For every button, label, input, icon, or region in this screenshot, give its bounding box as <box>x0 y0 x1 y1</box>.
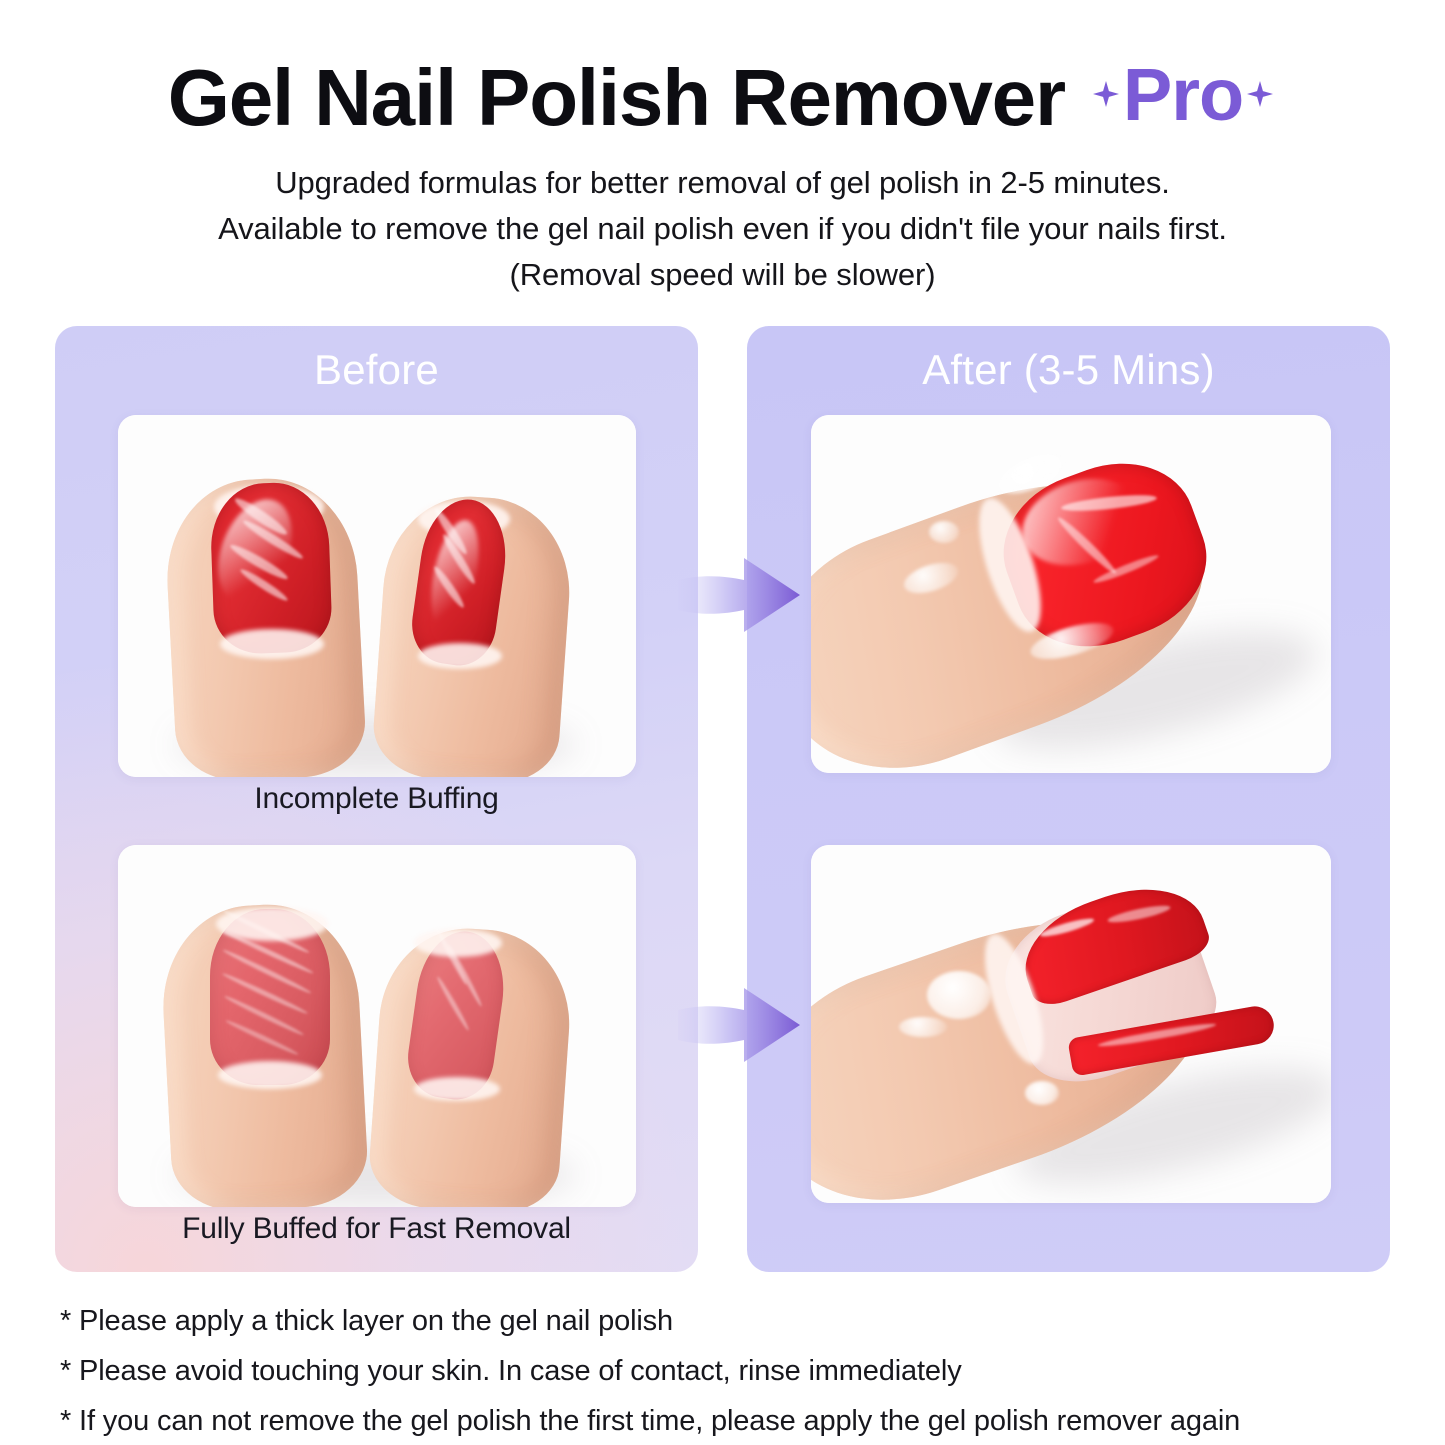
after-panel-heading: After (3-5 Mins) <box>747 326 1390 414</box>
subtitle-line-2: Available to remove the gel nail polish … <box>0 206 1445 252</box>
after-photo-card-1 <box>811 415 1331 773</box>
photo-polish-peeling <box>811 845 1331 1203</box>
before-photo-card-2 <box>118 845 636 1207</box>
sparkle-diamond-icon <box>1247 81 1273 107</box>
page-title: Gel Nail Polish RemoverPro <box>0 52 1445 144</box>
pro-badge: Pro <box>1089 52 1277 137</box>
arrow-right-icon <box>676 982 802 1068</box>
pro-badge-label: Pro <box>1123 53 1243 136</box>
subtitle-line-1: Upgraded formulas for better removal of … <box>0 160 1445 206</box>
before-caption-2: Fully Buffed for Fast Removal <box>55 1212 698 1246</box>
infographic-root: Gel Nail Polish RemoverPro Upgraded form… <box>0 0 1445 1445</box>
photo-gel-applied <box>811 415 1331 773</box>
subtitle-block: Upgraded formulas for better removal of … <box>0 160 1445 298</box>
after-photo-card-2 <box>811 845 1331 1203</box>
subtitle-line-3: (Removal speed will be slower) <box>0 252 1445 298</box>
before-panel-heading: Before <box>55 326 698 414</box>
arrow-right-icon <box>676 552 802 638</box>
note-item: * If you can not remove the gel polish t… <box>60 1396 1410 1445</box>
photo-incomplete-buffing <box>118 415 636 777</box>
notes-list: * Please apply a thick layer on the gel … <box>60 1296 1410 1445</box>
title-main-text: Gel Nail Polish Remover <box>168 53 1065 142</box>
after-panel: After (3-5 Mins) <box>747 326 1390 1272</box>
before-panel: Before <box>55 326 698 1272</box>
note-item: * Please apply a thick layer on the gel … <box>60 1296 1410 1346</box>
before-caption-1: Incomplete Buffing <box>55 782 698 816</box>
photo-fully-buffed <box>118 845 636 1207</box>
sparkle-diamond-icon <box>1093 81 1119 107</box>
before-photo-card-1 <box>118 415 636 777</box>
note-item: * Please avoid touching your skin. In ca… <box>60 1346 1410 1396</box>
